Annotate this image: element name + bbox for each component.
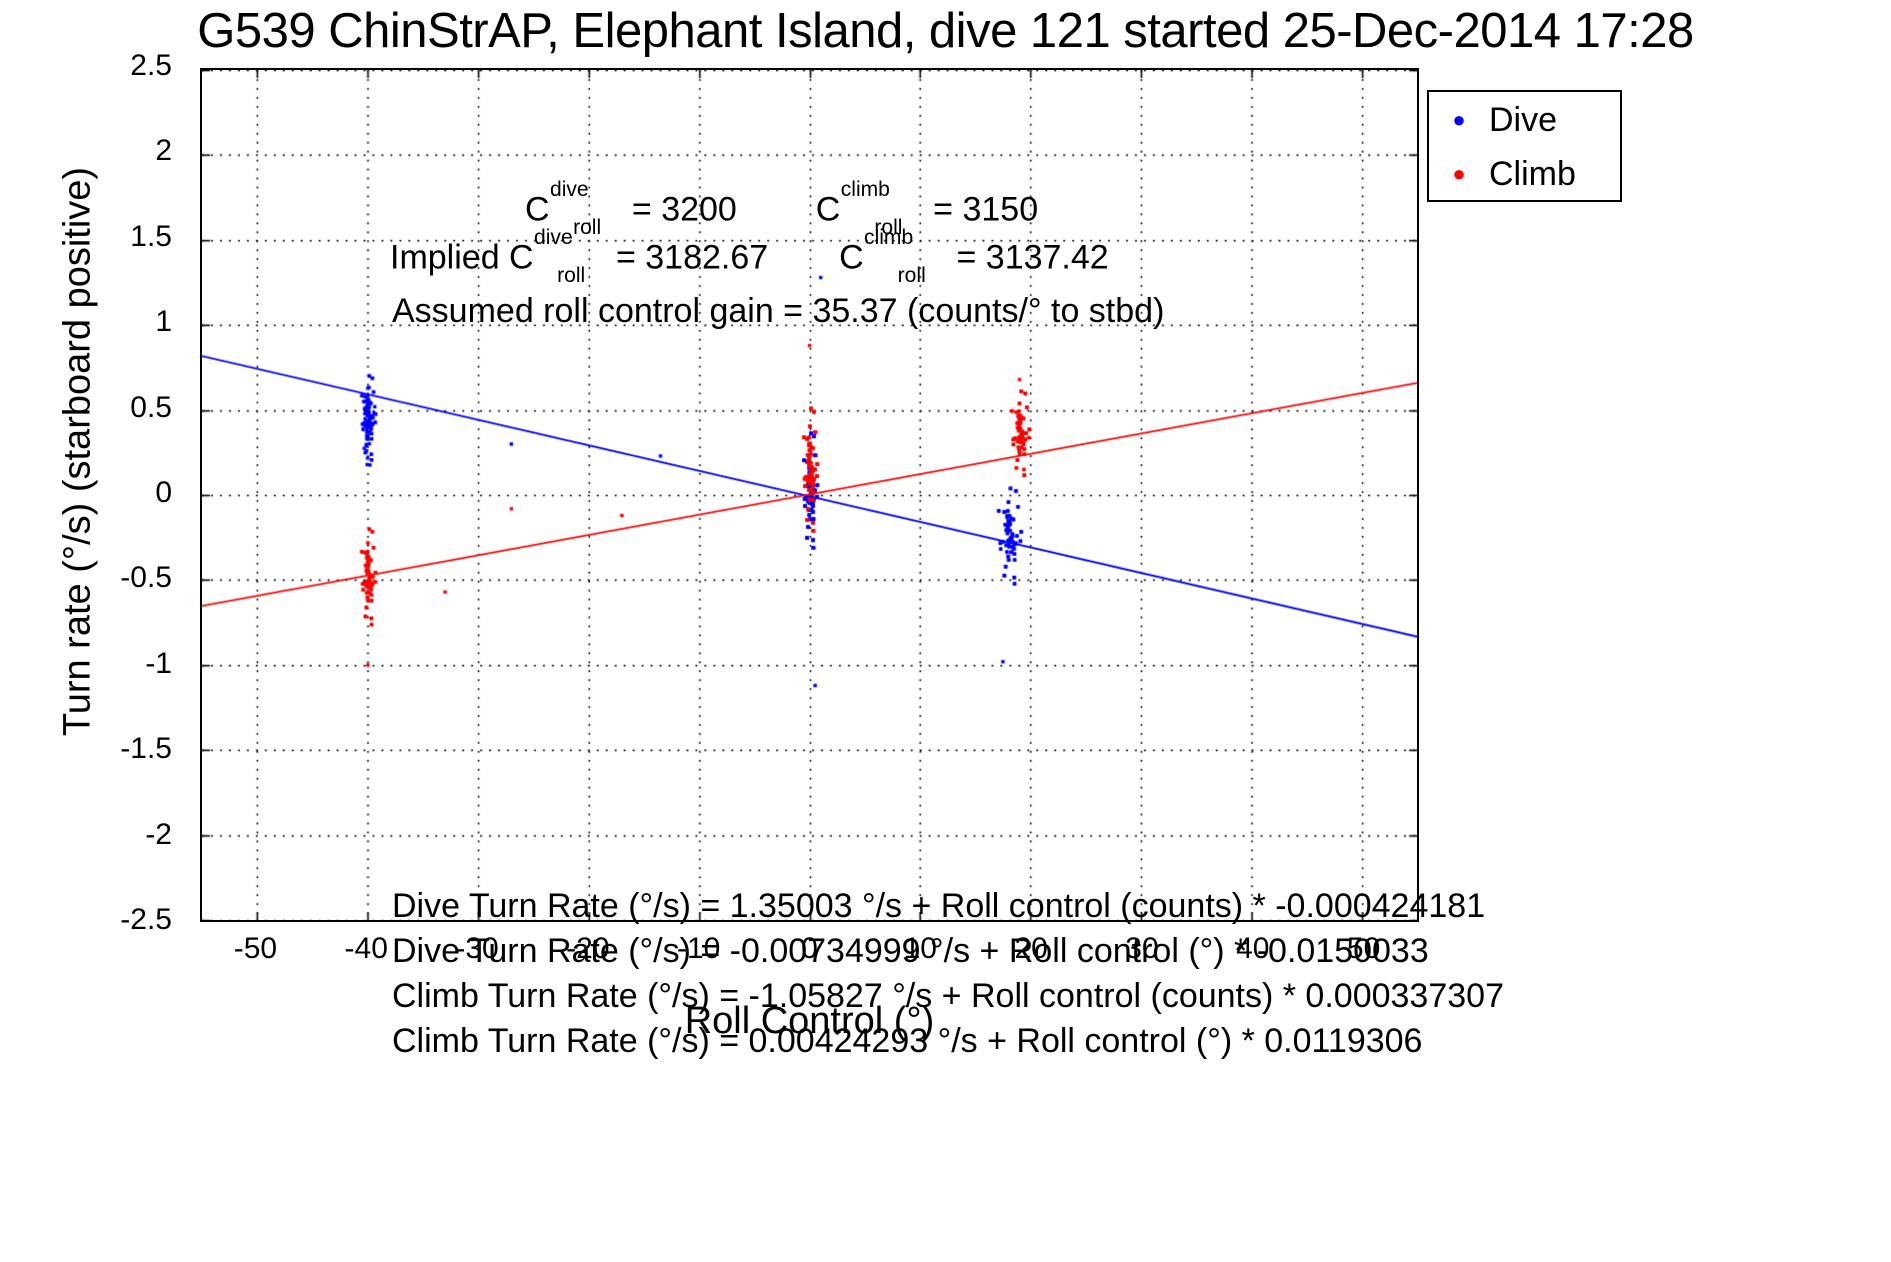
y-tick-label: 2.5 (0, 49, 186, 83)
y-tick-label: -2.5 (0, 903, 186, 937)
implied-dive-value: = 3182.67 (607, 238, 769, 276)
page-title: G539 ChinStrAP, Elephant Island, dive 12… (0, 2, 1891, 60)
y-tick-label: -2 (0, 818, 186, 852)
annotation-croll-implied: Implied Cdiveroll = 3182.67 Cclimbroll =… (390, 238, 1109, 282)
figure-window: G539 ChinStrAP, Elephant Island, dive 12… (0, 0, 1891, 1262)
annotation-croll-nominal: Cdiveroll = 3200 Cclimbroll = 3150 (525, 190, 1038, 234)
legend: ● Dive ● Climb (1427, 90, 1622, 202)
croll-dive-value: = 3200 (622, 190, 736, 228)
legend-item-climb[interactable]: ● Climb (1429, 146, 1620, 202)
equation-dive-degrees: Dive Turn Rate (°/s) = -0.00734999 °/s +… (392, 932, 1429, 971)
annotation-roll-gain: Assumed roll control gain = 35.37 (count… (392, 292, 1164, 331)
y-tick-label: 0 (0, 476, 186, 510)
implied-climb-value: = 3137.42 (947, 238, 1109, 276)
equation-climb-degrees: Climb Turn Rate (°/s) = 0.00424293 °/s +… (392, 1022, 1422, 1061)
y-tick-label: -1 (0, 647, 186, 681)
climb-marker-icon: ● (1429, 163, 1489, 185)
legend-item-dive[interactable]: ● Dive (1429, 92, 1620, 148)
equation-climb-counts: Climb Turn Rate (°/s) = -1.05827 °/s + R… (392, 977, 1504, 1016)
y-axis-label: Turn rate (°/s) (starboard positive) (57, 102, 100, 802)
legend-label-dive: Dive (1489, 101, 1557, 140)
y-tick-label: 1.5 (0, 220, 186, 254)
implied-dive-term: Implied Cdiveroll (390, 238, 600, 282)
x-tick-label: -50 (195, 932, 315, 966)
y-tick-label: 0.5 (0, 391, 186, 425)
y-tick-label: -0.5 (0, 561, 186, 595)
y-tick-label: 2 (0, 134, 186, 168)
croll-climb-value: = 3150 (924, 190, 1038, 228)
implied-climb-term: Cclimbroll (839, 238, 941, 282)
equation-dive-counts: Dive Turn Rate (°/s) = 1.35003 °/s + Rol… (392, 887, 1485, 926)
dive-marker-icon: ● (1429, 109, 1489, 131)
y-tick-label: 1 (0, 305, 186, 339)
legend-label-climb: Climb (1489, 155, 1576, 194)
y-tick-label: -1.5 (0, 732, 186, 766)
